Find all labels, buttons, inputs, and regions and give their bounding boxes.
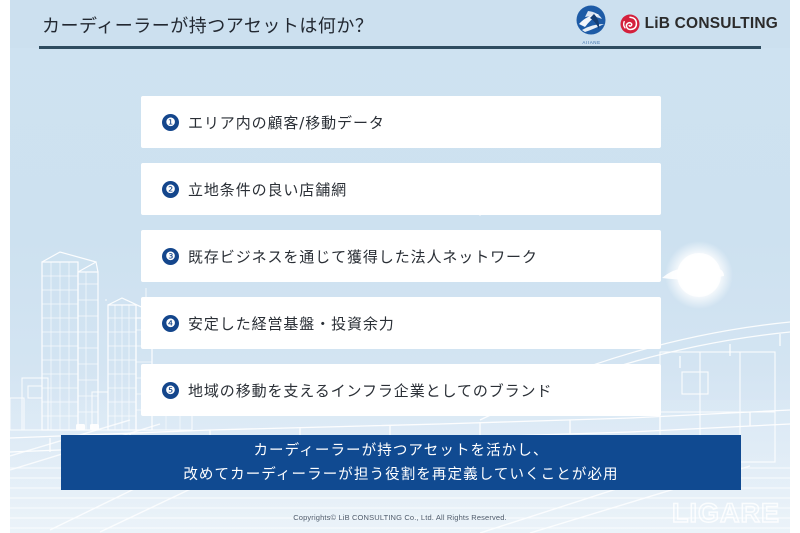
slide-header: カーディーラーが持つアセットは何か？ AIIANE LiB CO — [10, 0, 790, 48]
asset-number-badge-4: ❹ — [162, 315, 179, 332]
slide-margin-left — [0, 0, 10, 533]
asset-card-3[interactable]: ❸ 既存ビジネスを通じて獲得した法人ネットワーク — [141, 230, 661, 282]
header-divider — [39, 46, 761, 49]
conclusion-line-2: 改めてカーディーラーが担う役割を再定義していくことが必用 — [183, 463, 618, 487]
asset-number-badge-2: ❷ — [162, 181, 179, 198]
asset-label-1: エリア内の顧客/移動データ — [188, 112, 385, 133]
moon-graphic — [662, 241, 733, 309]
asset-number-badge-1: ❶ — [162, 114, 179, 131]
conclusion-line-1: カーディーラーが持つアセットを活かし、 — [253, 439, 548, 463]
asset-card-2[interactable]: ❷ 立地条件の良い店舗網 — [141, 163, 661, 215]
asset-label-3: 既存ビジネスを通じて獲得した法人ネットワーク — [188, 246, 538, 267]
asset-label-2: 立地条件の良い店舗網 — [188, 179, 347, 200]
conclusion-banner: カーディーラーが持つアセットを活かし、 改めてカーディーラーが担う役割を再定義し… — [61, 435, 741, 490]
aiiane-logo: AIIANE — [572, 4, 612, 44]
slide-margin-right — [790, 0, 800, 533]
asset-number-badge-5: ❺ — [162, 382, 179, 399]
asset-label-5: 地域の移動を支えるインフラ企業としてのブランド — [188, 380, 552, 401]
logo-group: AIIANE LiB CONSULTING — [572, 4, 778, 44]
lib-swirl-icon — [620, 14, 640, 34]
page-title: カーディーラーが持つアセットは何か？ — [42, 12, 373, 38]
asset-card-1[interactable]: ❶ エリア内の顧客/移動データ — [141, 96, 661, 148]
asset-number-badge-3: ❸ — [162, 248, 179, 265]
aiiane-logo-caption: AIIANE — [572, 40, 612, 45]
ligare-watermark: LIGARE — [672, 498, 780, 529]
asset-label-4: 安定した経営基盤・投資余力 — [188, 313, 395, 334]
lib-consulting-logo: LiB CONSULTING — [620, 14, 778, 34]
slide: カーディーラーが持つアセットは何か？ AIIANE LiB CO — [10, 0, 790, 533]
lib-consulting-wordmark: LiB CONSULTING — [645, 15, 778, 33]
asset-list: ❶ エリア内の顧客/移動データ ❷ 立地条件の良い店舗網 ❸ 既存ビジネスを通じ… — [141, 96, 661, 431]
asset-card-5[interactable]: ❺ 地域の移動を支えるインフラ企業としてのブランド — [141, 364, 661, 416]
aiiane-mark-icon — [572, 4, 612, 40]
asset-card-4[interactable]: ❹ 安定した経営基盤・投資余力 — [141, 297, 661, 349]
